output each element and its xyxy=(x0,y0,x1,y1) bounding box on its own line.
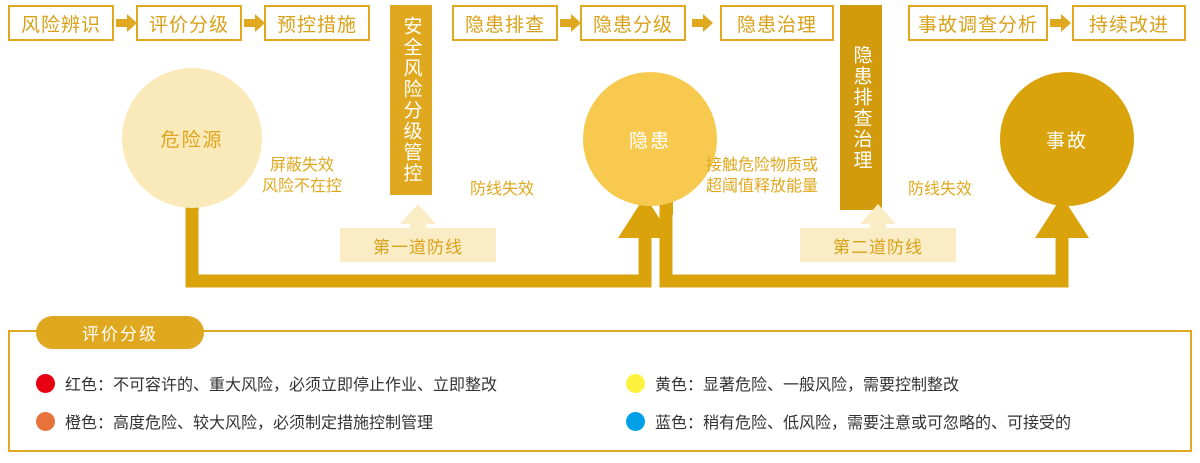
caption-defense-failure-2: 防线失效 xyxy=(908,179,972,200)
yellow-dot-icon xyxy=(626,374,645,393)
legend-title-badge: 评价分级 xyxy=(36,316,204,349)
process-step-4[interactable]: 隐患分级 xyxy=(580,5,686,41)
banner-hazard-investigation: 隐患排查治理 xyxy=(840,5,882,210)
process-step-3[interactable]: 隐患排查 xyxy=(452,5,558,41)
legend-item-yellow: 黄色：显著危险、一般风险，需要控制整改 xyxy=(600,364,1190,402)
diagram-canvas: 风险辨识 评价分级 预控措施 隐患排查 隐患分级 隐患治理 事故调查分析 持续改… xyxy=(0,0,1200,463)
right-arrow-icon xyxy=(116,13,138,33)
legend-item-text: 红色：不可容许的、重大风险，必须立即停止作业、立即整改 xyxy=(65,371,497,395)
defense-line-first[interactable]: 第一道防线 xyxy=(340,228,496,262)
right-arrow-icon xyxy=(1050,13,1072,33)
legend-item-text: 蓝色：稍有危险、低风险，需要注意或可忽略的、可接受的 xyxy=(655,409,1071,433)
red-dot-icon xyxy=(36,374,55,393)
node-hidden-danger[interactable]: 隐患 xyxy=(583,72,717,206)
caption-shield-failure: 屏蔽失效 风险不在控 xyxy=(262,155,342,197)
caption-energy-release: 接触危险物质或 超阈值释放能量 xyxy=(706,155,818,197)
blue-dot-icon xyxy=(626,412,645,431)
defense-line-second[interactable]: 第二道防线 xyxy=(800,228,956,262)
caption-line-1: 屏蔽失效 xyxy=(262,155,342,176)
right-arrow-icon xyxy=(560,13,582,33)
right-arrow-icon xyxy=(692,13,714,33)
legend-item-text: 黄色：显著危险、一般风险，需要控制整改 xyxy=(655,371,959,395)
legend-item-orange: 橙色：高度危险、较大风险，必须制定措施控制管理 xyxy=(10,402,600,440)
process-step-7[interactable]: 持续改进 xyxy=(1072,5,1186,41)
process-step-2[interactable]: 预控措施 xyxy=(264,5,370,41)
caption-line-2: 超阈值释放能量 xyxy=(706,176,818,197)
orange-dot-icon xyxy=(36,412,55,431)
banner-risk-control: 安全风险分级管控 xyxy=(390,5,432,195)
process-step-5[interactable]: 隐患治理 xyxy=(720,5,834,41)
node-accident[interactable]: 事故 xyxy=(1000,72,1134,206)
legend-item-blue: 蓝色：稍有危险、低风险，需要注意或可忽略的、可接受的 xyxy=(600,402,1190,440)
node-hazard-source[interactable]: 危险源 xyxy=(122,68,262,208)
caption-line-2: 风险不在控 xyxy=(262,176,342,197)
legend-grid: 红色：不可容许的、重大风险，必须立即停止作业、立即整改 橙色：高度危险、较大风险… xyxy=(10,364,1190,440)
legend-column-left: 红色：不可容许的、重大风险，必须立即停止作业、立即整改 橙色：高度危险、较大风险… xyxy=(10,364,600,440)
process-step-0[interactable]: 风险辨识 xyxy=(8,5,114,41)
legend-item-red: 红色：不可容许的、重大风险，必须立即停止作业、立即整改 xyxy=(10,364,600,402)
legend-column-right: 黄色：显著危险、一般风险，需要控制整改 蓝色：稍有危险、低风险，需要注意或可忽略… xyxy=(600,364,1190,440)
legend-item-text: 橙色：高度危险、较大风险，必须制定措施控制管理 xyxy=(65,409,433,433)
process-step-row: 风险辨识 评价分级 预控措施 隐患排查 隐患分级 隐患治理 事故调查分析 持续改… xyxy=(0,0,1200,46)
right-arrow-icon xyxy=(244,13,266,33)
caption-defense-failure-1: 防线失效 xyxy=(470,179,534,200)
caption-line-1: 接触危险物质或 xyxy=(706,155,818,176)
process-step-6[interactable]: 事故调查分析 xyxy=(908,5,1048,41)
process-step-1[interactable]: 评价分级 xyxy=(136,5,242,41)
